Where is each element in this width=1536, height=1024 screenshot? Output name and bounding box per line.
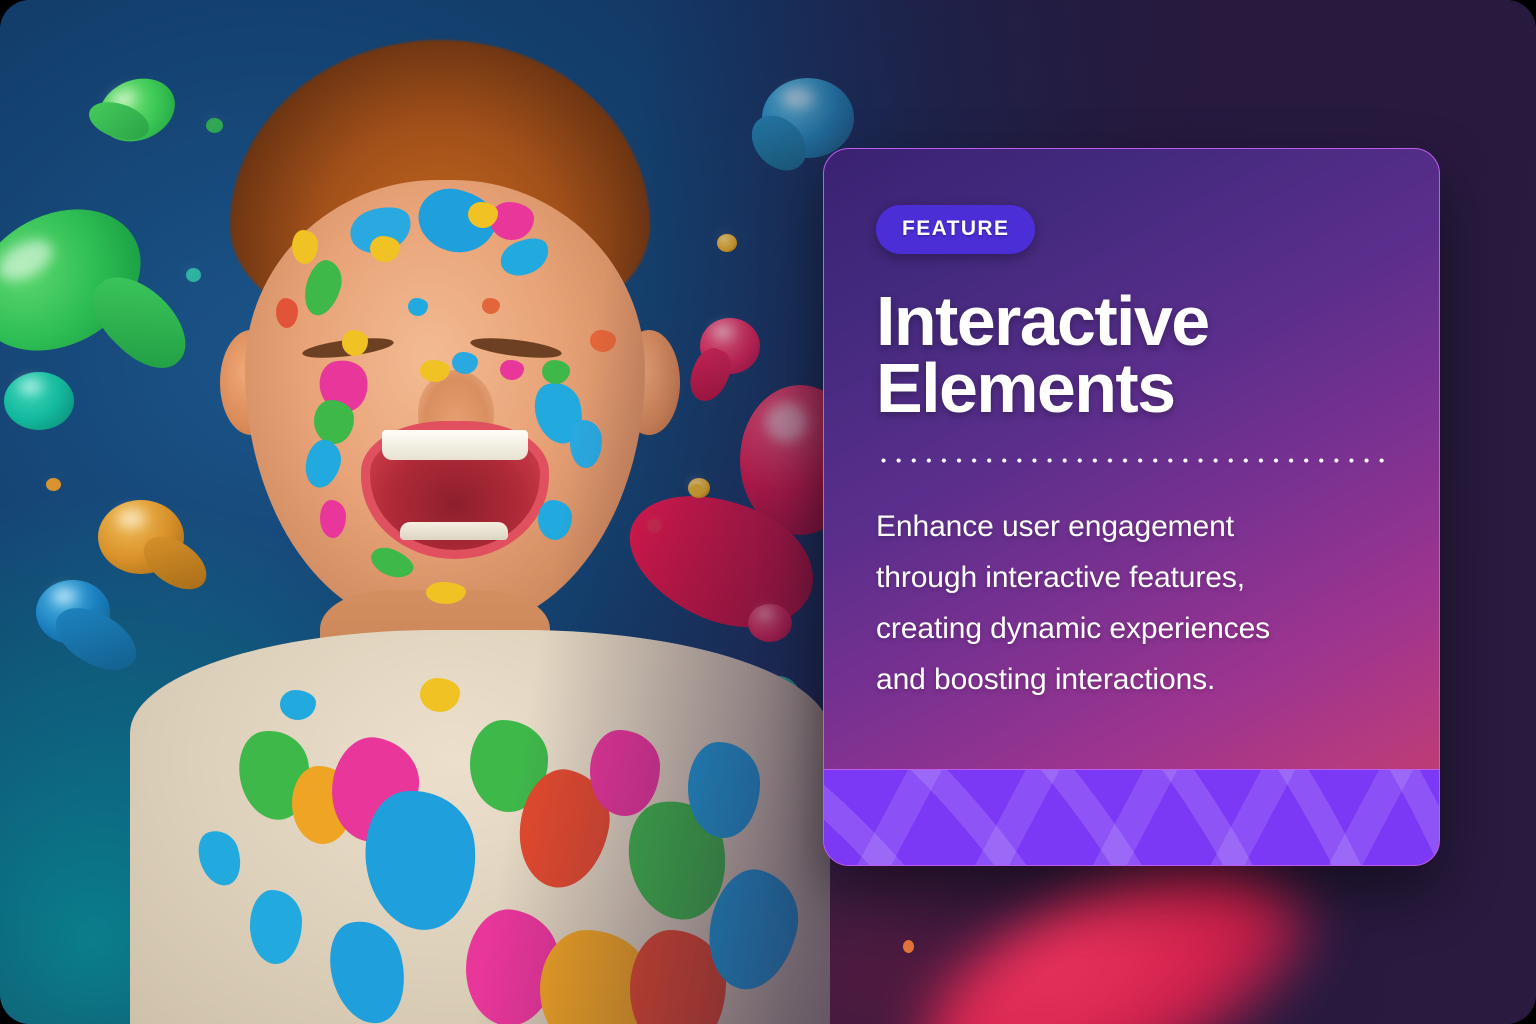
orange-dot-foreground-icon [903,940,914,953]
feature-card-body: FEATURE Interactive Elements Enhance use… [824,149,1439,769]
feature-card[interactable]: FEATURE Interactive Elements Enhance use… [823,148,1440,866]
dotted-divider [876,458,1387,463]
feature-badge[interactable]: FEATURE [876,205,1035,254]
poster-canvas: FEATURE Interactive Elements Enhance use… [0,0,1536,1024]
card-description: Enhance user engagement through interact… [876,501,1387,705]
card-title: Interactive Elements [876,288,1387,422]
card-footer-stripes [824,769,1439,865]
